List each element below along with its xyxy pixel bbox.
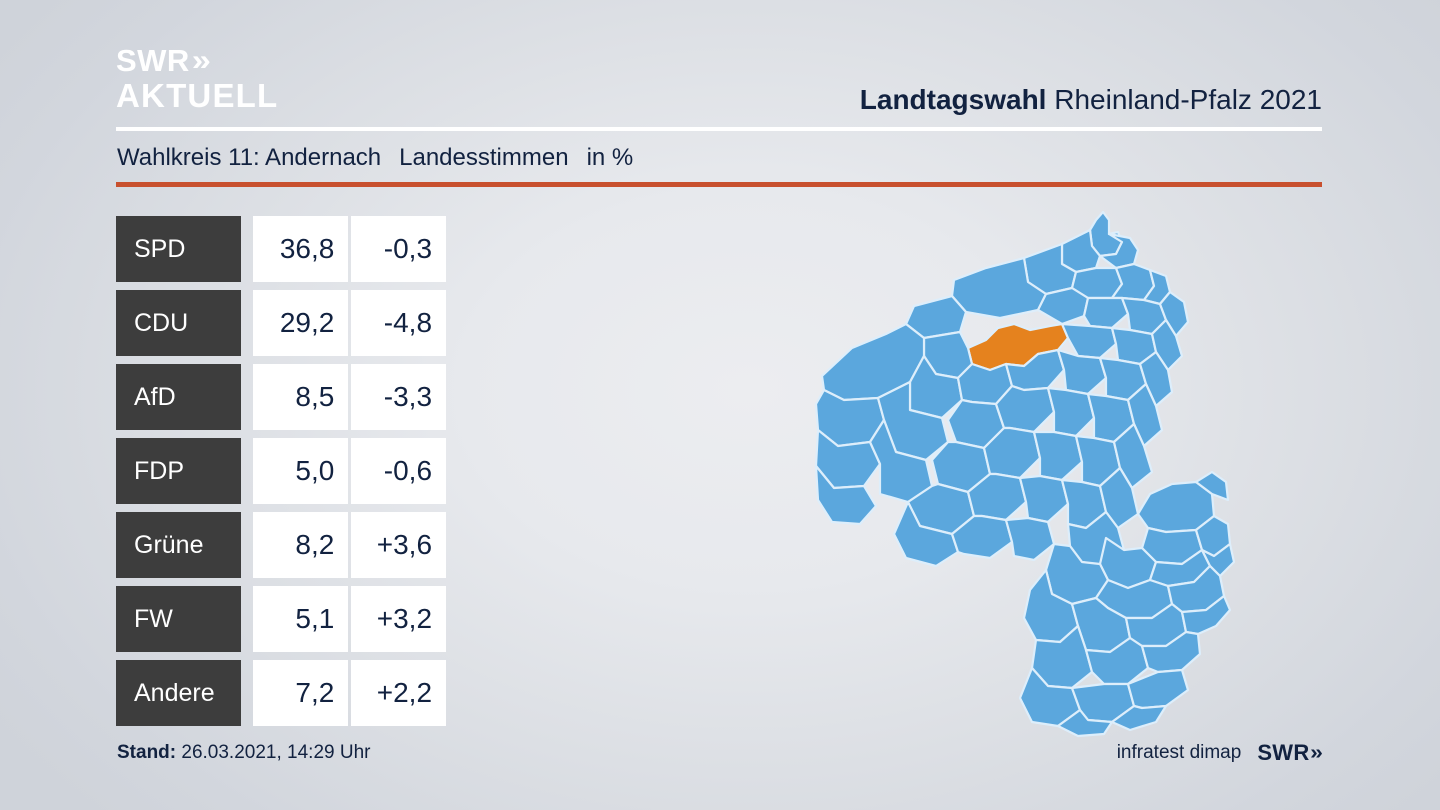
district — [996, 386, 1054, 432]
party-label: FW — [116, 586, 241, 652]
map-districts — [816, 212, 1234, 736]
district — [1006, 518, 1054, 560]
swr-aktuell-logo: SWR » AKTUELL — [116, 45, 278, 112]
table-row: AfD 8,5 -3,3 — [116, 364, 446, 430]
logo-line-swr: SWR » — [116, 45, 278, 76]
party-share-value: 8,5 — [253, 364, 349, 430]
header-divider-white — [116, 127, 1322, 131]
page-title-regular: Rheinland-Pfalz 2021 — [1054, 84, 1322, 115]
logo-text-swr: SWR — [116, 45, 190, 76]
double-chevron-icon: » — [192, 46, 212, 76]
party-share-value: 36,8 — [253, 216, 349, 282]
district — [1084, 298, 1128, 328]
page-title: Landtagswahl Rheinland-Pfalz 2021 — [860, 84, 1322, 116]
party-change-value: +3,2 — [351, 586, 446, 652]
party-share-value: 7,2 — [253, 660, 349, 726]
credits: infratest dimap SWR» — [1117, 740, 1322, 766]
subtitle-constituency: Wahlkreis 11: Andernach — [117, 144, 381, 171]
party-label: Grüne — [116, 512, 241, 578]
party-label: AfD — [116, 364, 241, 430]
logo-text-aktuell: AKTUELL — [116, 79, 278, 112]
table-row: Grüne 8,2 +3,6 — [116, 512, 446, 578]
party-label: SPD — [116, 216, 241, 282]
constituency-map[interactable] — [800, 198, 1240, 738]
party-change-value: -3,3 — [351, 364, 446, 430]
party-change-value: +3,6 — [351, 512, 446, 578]
district — [1034, 432, 1082, 480]
map-svg — [800, 198, 1240, 738]
party-share-value: 29,2 — [253, 290, 349, 356]
party-share-value: 5,1 — [253, 586, 349, 652]
swr-logo-small: SWR» — [1257, 740, 1322, 766]
source-label: infratest dimap — [1117, 742, 1242, 764]
table-row: SPD 36,8 -0,3 — [116, 216, 446, 282]
double-chevron-icon: » — [1310, 742, 1323, 765]
swr-logo-text: SWR — [1257, 740, 1309, 766]
party-change-value: +2,2 — [351, 660, 446, 726]
district — [1020, 476, 1068, 522]
timestamp-label: Stand: — [117, 742, 176, 763]
header-divider-orange — [116, 182, 1322, 187]
party-label: CDU — [116, 290, 241, 356]
party-share-value: 8,2 — [253, 512, 349, 578]
infographic-page: SWR » AKTUELL Landtagswahl Rheinland-Pfa… — [0, 0, 1440, 810]
party-change-value: -0,3 — [351, 216, 446, 282]
district — [1038, 288, 1088, 324]
table-row: FDP 5,0 -0,6 — [116, 438, 446, 504]
timestamp: Stand: 26.03.2021, 14:29 Uhr — [117, 742, 370, 764]
table-row: Andere 7,2 +2,2 — [116, 660, 446, 726]
party-label: FDP — [116, 438, 241, 504]
timestamp-value: 26.03.2021, 14:29 Uhr — [181, 742, 370, 763]
results-table: SPD 36,8 -0,3 CDU 29,2 -4,8 AfD 8,5 -3,3… — [116, 216, 446, 734]
party-change-value: -0,6 — [351, 438, 446, 504]
party-share-value: 5,0 — [253, 438, 349, 504]
district — [1048, 388, 1094, 436]
party-label: Andere — [116, 660, 241, 726]
table-row: FW 5,1 +3,2 — [116, 586, 446, 652]
subtitle-votetype: Landesstimmen — [399, 144, 568, 171]
subtitle: Wahlkreis 11: AndernachLandesstimmenin % — [117, 144, 633, 172]
page-title-bold: Landtagswahl — [860, 84, 1047, 115]
table-row: CDU 29,2 -4,8 — [116, 290, 446, 356]
party-change-value: -4,8 — [351, 290, 446, 356]
subtitle-unit: in % — [587, 144, 634, 171]
